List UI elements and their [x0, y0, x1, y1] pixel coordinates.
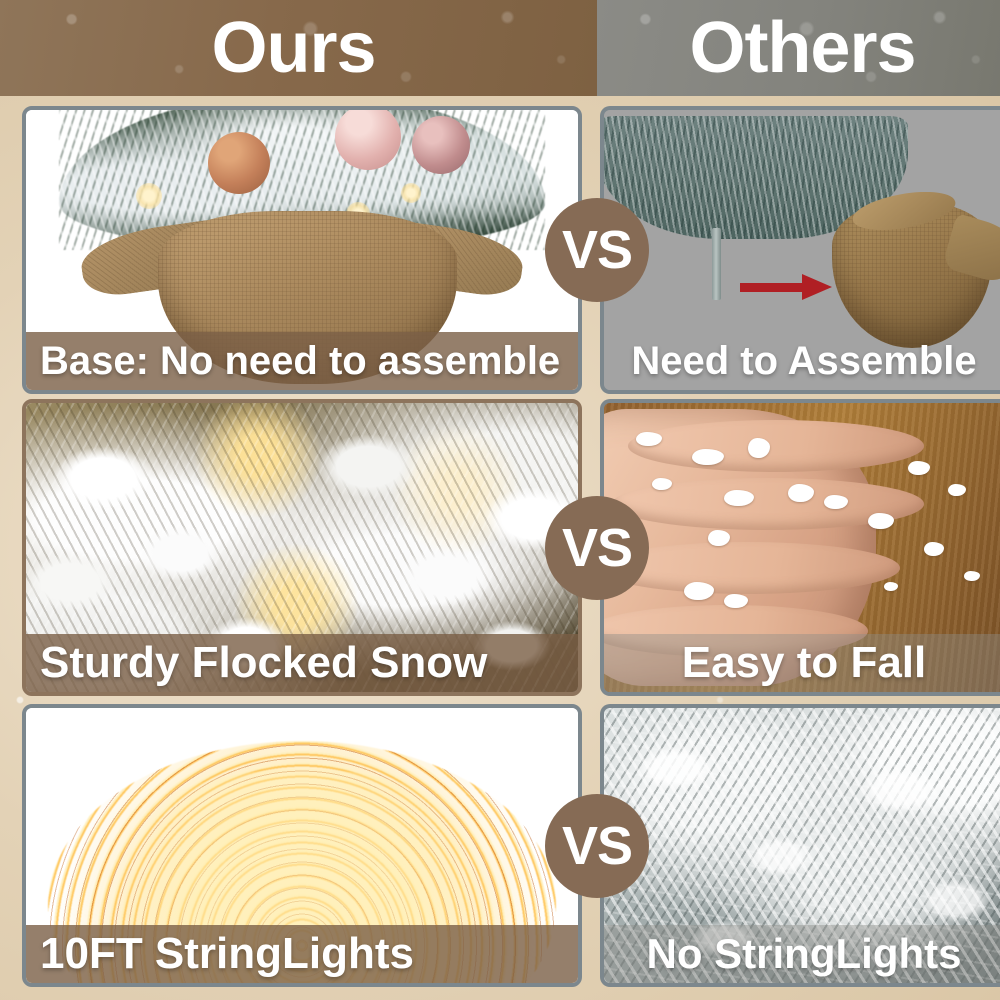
ornament-ball-mauve	[412, 116, 470, 174]
header-ours-panel: Ours	[0, 0, 597, 96]
snow-flake-piece	[748, 438, 770, 458]
snow-flake-piece	[924, 542, 944, 556]
others-caption-flocking-quality: Easy to Fall	[604, 634, 1000, 692]
vs-badge-row-2: VS	[545, 496, 649, 600]
others-card-base-assembly: Need to Assemble	[600, 106, 1000, 394]
ours-caption-base-assembly: Base: No need to assemble	[26, 332, 578, 390]
snow-flake-piece	[908, 461, 930, 475]
comparison-row-base-assembly: Base: No need to assemble Need to Assemb…	[0, 106, 1000, 394]
fairy-light-glow	[136, 183, 162, 209]
header-ours-title: Ours	[211, 12, 375, 84]
header-others-title: Others	[689, 12, 915, 84]
ours-caption-string-lights: 10FT StringLights	[26, 925, 578, 983]
header-bar: Ours Others	[0, 0, 1000, 96]
ours-card-base-assembly: Base: No need to assemble	[22, 106, 582, 394]
comparison-infographic: Ours Others	[0, 0, 1000, 1000]
others-card-string-lights: No StringLights	[600, 704, 1000, 987]
ours-card-string-lights: 10FT StringLights	[22, 704, 582, 987]
comparison-row-string-lights: 10FT StringLights No StringLights VS	[0, 704, 1000, 987]
vs-badge-row-3: VS	[545, 794, 649, 898]
metal-pole	[712, 228, 721, 301]
snow-flake-piece	[868, 513, 894, 529]
others-card-flocking-quality: Easy to Fall	[600, 399, 1000, 696]
ours-caption-flocking-quality: Sturdy Flocked Snow	[26, 634, 578, 692]
ours-card-flocking-quality: Sturdy Flocked Snow	[22, 399, 582, 696]
snow-flake-piece	[724, 594, 748, 608]
comparison-row-flocking-quality: Sturdy Flocked Snow	[0, 399, 1000, 696]
snow-flake-piece	[724, 490, 754, 506]
vs-badge-row-1: VS	[545, 198, 649, 302]
red-arrow-icon	[740, 281, 832, 293]
comparison-grid: Base: No need to assemble Need to Assemb…	[0, 96, 1000, 1000]
others-caption-base-assembly: Need to Assemble	[604, 332, 1000, 390]
finger	[628, 420, 924, 472]
snow-flake-piece	[964, 571, 980, 581]
header-others-panel: Others	[597, 0, 1000, 96]
others-caption-string-lights: No StringLights	[604, 925, 1000, 983]
